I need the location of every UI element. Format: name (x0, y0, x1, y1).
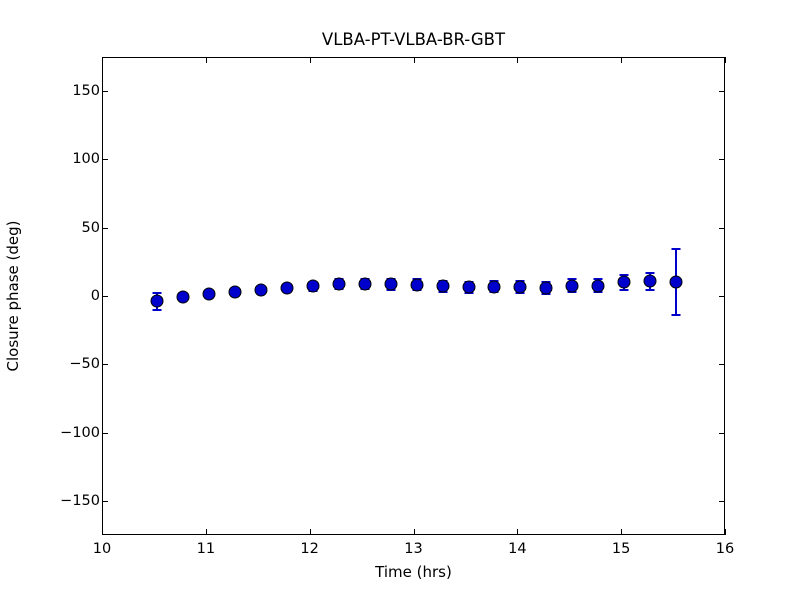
y-tick-mark (102, 364, 108, 365)
y-tick-mark-right (719, 433, 725, 434)
y-tick-mark-right (719, 228, 725, 229)
y-tick-mark-right (719, 159, 725, 160)
y-tick-mark (102, 228, 108, 229)
chart-title: VLBA-PT-VLBA-BR-GBT (102, 30, 725, 49)
axes-frame (102, 57, 725, 535)
x-tick-label: 15 (591, 541, 651, 557)
x-tick-mark (621, 529, 622, 535)
x-tick-mark (102, 529, 103, 535)
y-tick-label: −150 (0, 493, 100, 509)
y-tick-label: 150 (0, 83, 100, 99)
y-tick-mark-right (719, 296, 725, 297)
x-tick-label: 10 (72, 541, 132, 557)
x-tick-label: 13 (384, 541, 444, 557)
x-axis-label: Time (hrs) (102, 563, 725, 581)
y-tick-label: −100 (0, 425, 100, 441)
x-tick-label: 14 (487, 541, 547, 557)
y-tick-label: −50 (0, 356, 100, 372)
y-tick-mark (102, 159, 108, 160)
x-tick-label: 11 (176, 541, 236, 557)
y-tick-mark-right (719, 364, 725, 365)
y-tick-label: 0 (0, 288, 100, 304)
x-tick-label: 12 (280, 541, 340, 557)
x-tick-mark-top (725, 57, 726, 63)
x-tick-mark (517, 529, 518, 535)
x-tick-mark-top (310, 57, 311, 63)
y-tick-label: 50 (0, 220, 100, 236)
x-tick-mark (414, 529, 415, 535)
x-tick-mark (725, 529, 726, 535)
y-tick-mark-right (719, 501, 725, 502)
matplotlib-figure: VLBA-PT-VLBA-BR-GBT Closure phase (deg) … (0, 0, 800, 600)
x-tick-mark-top (206, 57, 207, 63)
y-tick-mark (102, 91, 108, 92)
y-tick-label: 100 (0, 151, 100, 167)
y-tick-mark (102, 296, 108, 297)
x-tick-mark-top (517, 57, 518, 63)
x-tick-mark-top (102, 57, 103, 63)
x-tick-label: 16 (695, 541, 755, 557)
x-tick-mark-top (621, 57, 622, 63)
x-tick-mark-top (414, 57, 415, 63)
x-tick-mark (206, 529, 207, 535)
x-tick-mark (310, 529, 311, 535)
y-tick-mark (102, 501, 108, 502)
figure-canvas: VLBA-PT-VLBA-BR-GBT Closure phase (deg) … (0, 0, 800, 600)
y-tick-mark (102, 433, 108, 434)
y-tick-mark-right (719, 91, 725, 92)
